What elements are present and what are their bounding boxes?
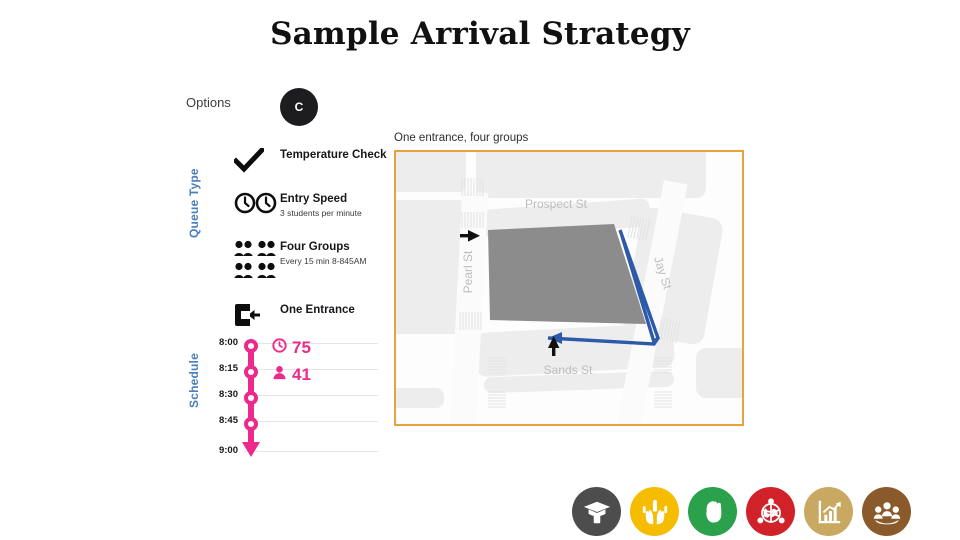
- schedule-row: 8:45: [198, 421, 378, 422]
- option-text: Entry Speed 3 students per minute: [280, 192, 362, 218]
- section-label-queue-type: Queue Type: [187, 168, 201, 238]
- schedule-time-label: 9:00: [198, 445, 238, 456]
- option-row-four-groups[interactable]: Four Groups Every 15 min 8-845AM: [234, 240, 394, 284]
- one-entrance-icon: [234, 303, 280, 327]
- stat-duration-value: 75: [292, 338, 311, 358]
- map-caption: One entrance, four groups: [394, 132, 746, 144]
- partnerships-globe-icon[interactable]: [746, 487, 795, 536]
- clock-icon: [272, 338, 287, 358]
- two-clocks-icon: [234, 192, 280, 214]
- economic-growth-icon[interactable]: [804, 487, 853, 536]
- page-title: Sample Arrival Strategy: [0, 16, 960, 52]
- options-panel: Options C Queue Type Schedule Temperatur…: [178, 88, 378, 478]
- option-row-one-entrance[interactable]: One Entrance: [234, 303, 394, 327]
- schedule-gridline: [244, 451, 378, 452]
- stat-people-value: 41: [292, 365, 311, 385]
- schedule-gridline: [244, 421, 378, 422]
- option-title: Temperature Check: [280, 149, 387, 163]
- schedule-timeline: 8:00 8:15 8:30 8:45 9:00: [178, 343, 378, 478]
- schedule-time-label: 8:30: [198, 389, 238, 400]
- timeline-node[interactable]: [244, 365, 258, 379]
- options-label: Options: [186, 95, 231, 110]
- quality-education-icon[interactable]: [572, 487, 621, 536]
- schedule-row: 8:30: [198, 395, 378, 396]
- option-subtitle: Every 15 min 8-845AM: [280, 256, 366, 266]
- street-label-prospect: Prospect St: [525, 197, 588, 211]
- option-title: One Entrance: [280, 304, 355, 318]
- option-row-temperature-check[interactable]: Temperature Check: [234, 148, 394, 174]
- stat-duration: 75: [272, 338, 311, 358]
- option-row-entry-speed[interactable]: Entry Speed 3 students per minute: [234, 192, 394, 218]
- street-label-sands: Sands St: [544, 363, 593, 377]
- option-title: Four Groups: [280, 241, 366, 255]
- timeline-arrow-icon: [242, 442, 260, 457]
- schedule-row: 9:00: [198, 451, 378, 452]
- reduced-inequalities-icon[interactable]: [630, 487, 679, 536]
- checkmark-icon: [234, 148, 280, 174]
- schedule-gridline: [244, 343, 378, 344]
- option-badge-label: C: [295, 100, 304, 114]
- option-text: Temperature Check: [280, 148, 387, 163]
- schedule-gridline: [244, 369, 378, 370]
- option-text: Four Groups Every 15 min 8-845AM: [280, 240, 366, 266]
- footer-icon-strip: [572, 487, 911, 536]
- schedule-time-label: 8:00: [198, 337, 238, 348]
- timeline-node[interactable]: [244, 391, 258, 405]
- option-title: Entry Speed: [280, 193, 362, 207]
- map-panel: One entrance, four groups: [394, 132, 746, 426]
- option-text: One Entrance: [280, 303, 355, 318]
- option-subtitle: 3 students per minute: [280, 208, 362, 218]
- option-badge-c[interactable]: C: [280, 88, 318, 126]
- map-frame[interactable]: Prospect St Pearl St Jay St Sands St: [394, 150, 744, 426]
- schedule-time-label: 8:45: [198, 415, 238, 426]
- schedule-time-label: 8:15: [198, 363, 238, 374]
- schedule-gridline: [244, 395, 378, 396]
- person-icon: [272, 365, 287, 385]
- gender-equality-icon[interactable]: [688, 487, 737, 536]
- community-icon[interactable]: [862, 487, 911, 536]
- timeline-node[interactable]: [244, 417, 258, 431]
- timeline-node[interactable]: [244, 339, 258, 353]
- street-label-pearl: Pearl St: [461, 250, 475, 293]
- four-groups-icon: [234, 240, 280, 284]
- stat-people: 41: [272, 365, 311, 385]
- map-canvas: Prospect St Pearl St Jay St Sands St: [396, 152, 742, 424]
